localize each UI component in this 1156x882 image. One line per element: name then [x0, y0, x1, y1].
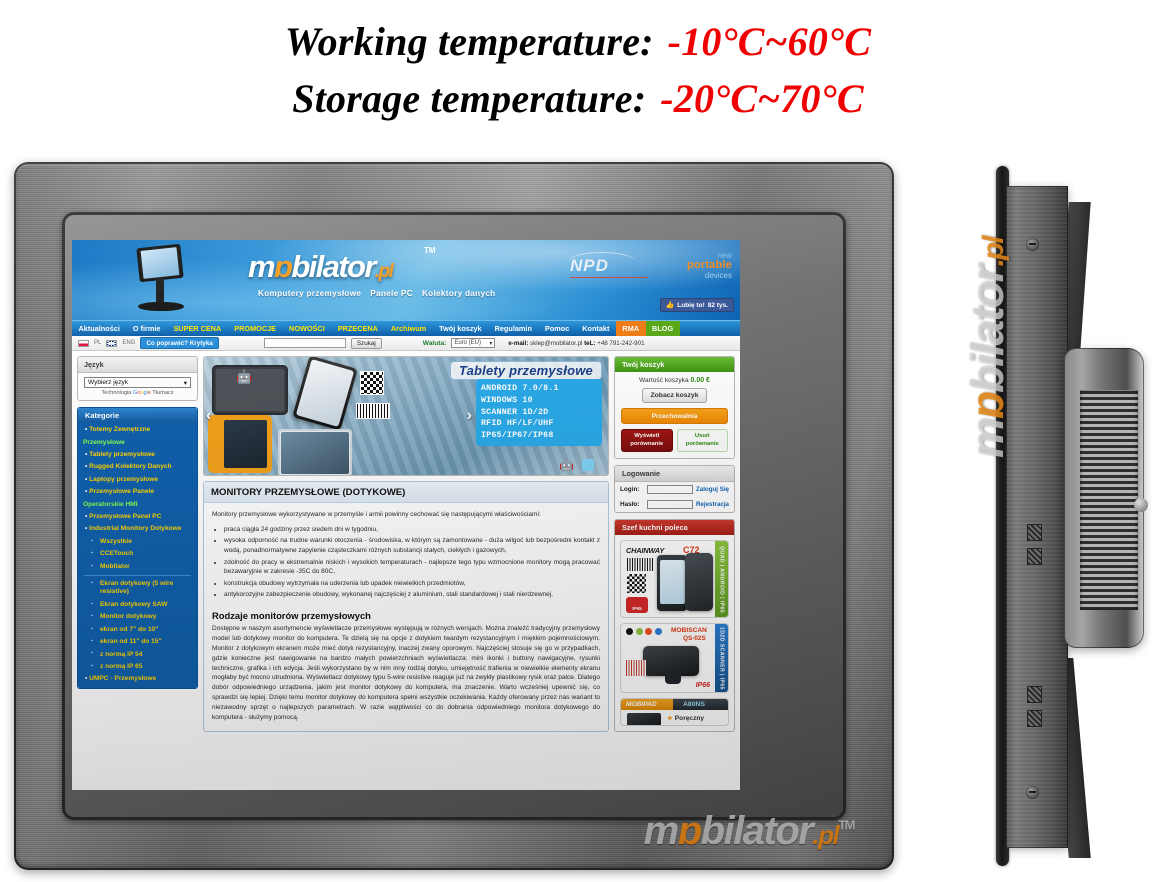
product-card-mobipad-a80ns[interactable]: MOBIPAD A80NS ★ Poręczny [620, 698, 729, 726]
nav-item-super-cena[interactable]: SUPER CENA [167, 321, 228, 336]
credit-suffix: Tłumacz [152, 390, 173, 396]
banner-spec-item: IP65/IP67/IP68 [481, 430, 597, 442]
password-input[interactable] [647, 500, 693, 509]
banner-prev-arrow[interactable]: ‹ [206, 407, 211, 425]
qr-code-icon [360, 371, 384, 395]
article-paragraph: Dostępne w naszym asortymencie wyświetla… [204, 624, 608, 727]
nav-item-rma[interactable]: RMA [616, 321, 646, 336]
mobipad-feature-label: Poręczny [675, 715, 704, 722]
category-item[interactable]: Przemysłowe Panel PC [78, 511, 197, 523]
currency-select[interactable]: Euro (EU) ▾ [451, 338, 495, 348]
npd-arc-icon [568, 252, 636, 262]
site-tagline: Komputery przemysłowePanele PCKolektory … [258, 289, 504, 298]
mobipad-feature: ★ Poręczny [667, 714, 704, 722]
show-comparison-button[interactable]: Wyświetl porównanie [621, 429, 673, 452]
c72-feature-strip: QUAD | ANDROID | IP65 [715, 541, 728, 617]
article-bullet: konstrukcja obudowy wytrzymała na uderze… [224, 579, 600, 589]
qs-feature-strip: 1D2D SCANNER | IP65 [715, 624, 728, 692]
storage-temperature-line: Storage temperature:-20°C~70°C [0, 71, 1156, 128]
qs-trigger [665, 672, 681, 684]
nav-item-twoj-koszyk[interactable]: Twój koszyk [433, 321, 488, 336]
article-lead: Monitory przemysłowe wykorzystywane w pr… [204, 503, 608, 523]
barcode-icon [626, 660, 646, 676]
wm-front-tm: TM [838, 818, 854, 833]
tagline-item-0: Komputery przemysłowe [258, 289, 361, 298]
port-pad-upper-2 [1027, 686, 1042, 703]
banner-spec-item: RFID HF/LF/UHF [481, 418, 597, 430]
flag-en-icon[interactable] [106, 340, 117, 347]
screw-icon [1026, 786, 1039, 799]
cart-value-row: Wartość koszyka 0.00 € [621, 377, 728, 384]
npd-tagline: new portable devices [687, 252, 732, 280]
category-item[interactable]: Ekran dotykowy SAW [78, 599, 197, 611]
windows-icon [645, 628, 652, 635]
category-item[interactable]: z normą IP 65 [78, 661, 197, 673]
nav-item-nowosci[interactable]: NOWOŚCI [283, 321, 332, 336]
bluetooth-icon [655, 628, 662, 635]
storage-temperature-value: -20°C~70°C [660, 76, 863, 121]
wm-front-pl: .pl [812, 820, 838, 850]
android-icon: 🤖 [559, 458, 574, 472]
clear-comparison-button[interactable]: Usuń porównanie [677, 429, 729, 452]
barcode-icon [356, 403, 390, 419]
search-input[interactable] [264, 338, 346, 348]
google-wordmark: Google [133, 390, 151, 396]
nav-item-o-firmie[interactable]: O firmie [126, 321, 167, 336]
category-item[interactable]: ekran od 7" do 10" [78, 624, 197, 636]
tagline-item-2: Kolektory danych [422, 289, 496, 298]
login-panel: Logowanie Login: Zaloguj Się Hasło: Reje… [614, 465, 735, 513]
barcode-icon [627, 558, 653, 571]
qs-model: QS-02S [683, 635, 706, 642]
article-bullet: wysoka odporność na trudne warunki otocz… [224, 536, 600, 556]
category-separator [84, 575, 191, 576]
working-temperature-line: Working temperature:-10°C~60°C [0, 14, 1156, 71]
nav-item-promocje[interactable]: PROMOCJE [228, 321, 283, 336]
cart-title: Twój koszyk [615, 357, 734, 372]
chef-title: Szef kuchni poleca [615, 520, 734, 535]
language-select[interactable]: Wybierz język ▾ [84, 377, 191, 388]
login-label: Login: [620, 486, 644, 493]
category-item[interactable]: Przemysłowe Panele [78, 486, 197, 498]
side-chassis [1006, 186, 1068, 848]
credit-prefix: Technologia [101, 390, 131, 396]
banner-tablet-2 [292, 356, 358, 431]
category-item[interactable]: Operatorskie HMI [78, 499, 197, 511]
category-item[interactable]: UMPC - Przemysłowe [78, 673, 197, 685]
logo-rest: bilator [291, 249, 375, 284]
qs-os-icons [626, 628, 662, 635]
temperature-headings: Working temperature:-10°C~60°C Storage t… [0, 0, 1156, 128]
mobipad-device-image [627, 713, 661, 726]
c72-ip-badge: IP65 [626, 597, 648, 613]
email-value[interactable]: sklep@mobilator.pl [530, 340, 582, 347]
kiosk-base [138, 302, 184, 311]
nav-item-pomoc[interactable]: Pomoc [538, 321, 575, 336]
login-row: Login: Zaloguj Się [615, 482, 734, 497]
category-item[interactable]: Ekran dotykowy (5 wire resistive) [78, 578, 197, 599]
nav-item-kontakt[interactable]: Kontakt [576, 321, 616, 336]
chef-recommends-panel: Szef kuchni poleca CHAINWAY C72 IP65 QUA… [614, 519, 735, 732]
product-card-chainway-c72[interactable]: CHAINWAY C72 IP65 QUAD | ANDROID | IP65 [620, 540, 729, 618]
category-item[interactable]: z normą IP 54 [78, 648, 197, 660]
category-item[interactable]: Industrial Monitory Dotykowe [78, 523, 197, 535]
mobipad-brand: MOBIPAD [626, 701, 657, 708]
category-item[interactable]: Mobilator [78, 561, 197, 573]
facebook-like-count: 82 tys. [708, 302, 728, 309]
android-robot-icon: 🤖 [236, 369, 252, 385]
facebook-like-label: Lubię to! [677, 302, 704, 309]
port-pad-upper [1027, 524, 1042, 541]
article-title: MONITORY PRZEMYSŁOWE (DOTYKOWE) [204, 482, 608, 503]
article-bullet: praca ciągła 24 godziny przez siedem dni… [224, 525, 600, 535]
cart-body: Wartość koszyka 0.00 € Zobacz koszyk Prz… [615, 372, 734, 458]
login-title: Logowanie [615, 466, 734, 482]
critique-badge[interactable]: Co poprawić? Krytyka [140, 337, 218, 349]
register-link[interactable]: Rejestracja [696, 501, 729, 508]
industrial-monitor-front-view: mɒbilator.pl TM Komputery przemysłowePan… [14, 162, 894, 870]
c72-device-back [685, 553, 713, 611]
website-mobilator: mɒbilator.pl TM Komputery przemysłowePan… [72, 240, 740, 738]
tel-label: teL: [584, 340, 595, 347]
cart-panel: Twój koszyk Wartość koszyka 0.00 € Zobac… [614, 356, 735, 459]
compare-buttons: Wyświetl porównanie Usuń porównanie [621, 429, 728, 452]
industrial-monitor-side-view: mɒbilator.pl [968, 158, 1156, 874]
lang-en-label[interactable]: ENG [122, 340, 135, 346]
login-input[interactable] [647, 485, 693, 494]
site-header: mɒbilator.pl TM Komputery przemysłowePan… [72, 240, 740, 320]
utility-bar: PL ENG Co poprawić? Krytyka Szukaj Walut… [72, 336, 740, 351]
npd-devices: devices [687, 272, 732, 280]
nav-item-archiwum[interactable]: Archiwum [384, 321, 432, 336]
language-panel-title: Język [78, 357, 197, 373]
chevron-down-icon: ▾ [489, 340, 492, 347]
category-item[interactable]: Laptopy przemysłowe [78, 474, 197, 486]
banner-title: Tablety przemysłowe [450, 361, 602, 380]
main-content: 🤖 2GB RAM 32GB Flash Tablety przemysłowe… [203, 356, 609, 738]
mobipad-model: A80NS [683, 701, 705, 708]
cart-value-label: Wartość koszyka [639, 377, 689, 384]
nav-item-blog[interactable]: BLOG [646, 321, 680, 336]
android-icon [636, 628, 643, 635]
nav-item-regulamin[interactable]: Regulamin [488, 321, 538, 336]
storage-button[interactable]: Przechowalnia [621, 408, 728, 424]
monitor-screen: mɒbilator.pl TM Komputery przemysłowePan… [72, 240, 740, 790]
product-photo-stage: mɒbilator.pl TM Komputery przemysłowePan… [0, 150, 1156, 882]
categories-panel: Kategorie Totemy ZewnętrznePrzemysłoweTa… [77, 407, 198, 689]
main-navigation: Aktualności O firmie SUPER CENA PROMOCJE… [72, 320, 740, 336]
login-button[interactable]: Zaloguj Się [696, 486, 729, 493]
right-sidebar: Twój koszyk Wartość koszyka 0.00 € Zobac… [614, 356, 735, 738]
windows-icon [582, 459, 594, 471]
c72-brand: CHAINWAY [626, 546, 664, 555]
qs-ip-badge: IP66 [696, 682, 710, 689]
tagline-item-1: Panele PC [370, 289, 413, 298]
npd-logo[interactable]: NPD [570, 256, 648, 278]
thumbs-up-icon: 👍 [666, 301, 675, 309]
email-label: e-mail: [508, 340, 528, 347]
product-card-mobiscan-qs02s[interactable]: MOBISCAN QS-02S IP66 1D2D SCANNER | IP65 [620, 623, 729, 693]
banner-spec-item: ANDROID 7.0/8.1 [481, 383, 597, 395]
apple-icon [626, 628, 633, 635]
view-cart-button[interactable]: Zobacz koszyk [642, 388, 708, 403]
password-row: Hasło: Rejestracja [615, 497, 734, 512]
category-item[interactable]: ekran od 11" do 15" [78, 636, 197, 648]
promo-banner[interactable]: 🤖 2GB RAM 32GB Flash Tablety przemysłowe… [203, 356, 609, 476]
banner-spec-item: WINDOWS 10 [481, 395, 597, 407]
chevron-down-icon: ▾ [184, 379, 187, 387]
c72-device-front [657, 555, 687, 611]
port-pad-lower-2 [1027, 710, 1042, 727]
site-logo[interactable]: mɒbilator.pl [248, 249, 392, 285]
side-rear-housing [1064, 348, 1144, 648]
side-knob [1134, 498, 1148, 512]
logo-o: ɒ [274, 249, 291, 284]
nav-item-przecena[interactable]: PRZECENA [331, 321, 384, 336]
language-panel: Język Wybierz język ▾ Technologia Google… [77, 356, 198, 401]
qr-code-icon [627, 574, 646, 593]
article-bullet: antykorozyjne zabezpieczenie obudowy, wy… [224, 590, 600, 600]
article-subtitle: Rodzaje monitorów przemysłowych [204, 604, 608, 624]
qs-brand: MOBISCAN [671, 627, 707, 634]
tel-value: +48 791-242-901 [597, 340, 644, 347]
site-body: Język Wybierz język ▾ Technologia Google… [72, 351, 740, 738]
article-bullet-list: praca ciągła 24 godziny przez siedem dni… [224, 525, 600, 600]
currency-label: Waluta: [423, 340, 447, 347]
flag-pl-icon[interactable] [78, 340, 89, 347]
heatsink-fins [1080, 390, 1138, 610]
category-item[interactable]: Przemysłowe [78, 436, 197, 448]
logo-pl: .pl [375, 261, 392, 282]
cart-value-amount: 0.00 € [690, 377, 709, 384]
currency-value: Euro (EU) [454, 340, 481, 346]
star-icon: ★ [667, 715, 673, 722]
category-item[interactable]: CCETouch [78, 548, 197, 560]
banner-os-icons: 🤖 [559, 458, 594, 472]
category-item[interactable]: Totemy Zewnętrzne [78, 424, 197, 436]
category-item[interactable]: Wszystkie [78, 536, 197, 548]
banner-spec-item: SCANNER 1D/2D [481, 407, 597, 419]
article: MONITORY PRZEMYSŁOWE (DOTYKOWE) Monitory… [203, 481, 609, 732]
banner-spec-list: ANDROID 7.0/8.1WINDOWS 10SCANNER 1D/2DRF… [476, 379, 602, 446]
language-panel-body: Wybierz język ▾ Technologia Google Tłuma… [78, 373, 197, 400]
banner-tablet-3 [208, 415, 272, 473]
screw-icon [1026, 238, 1039, 251]
kiosk-screen-icon [136, 244, 183, 282]
article-bullet: zdolność do pracy w ekstremalnie niskich… [224, 558, 600, 578]
kiosk-illustration [124, 244, 196, 316]
logo-m: m [248, 249, 274, 284]
contact-info: e-mail: sklep@mobilator.pl teL: +48 791-… [508, 340, 644, 347]
port-pad-lower [1027, 548, 1042, 565]
language-select-value: Wybierz język [88, 379, 128, 386]
category-item[interactable]: Rugged Kolektory Danych [78, 461, 197, 473]
working-temperature-value: -10°C~60°C [668, 19, 871, 64]
banner-tablet-4 [278, 429, 352, 476]
search-button[interactable]: Szukaj [351, 338, 382, 349]
kiosk-neck [156, 278, 164, 304]
nav-item-aktualnosci[interactable]: Aktualności [72, 321, 126, 336]
password-label: Hasło: [620, 501, 644, 508]
categories-list: Totemy ZewnętrznePrzemysłoweTablety prze… [78, 423, 197, 688]
left-sidebar: Język Wybierz język ▾ Technologia Google… [77, 356, 198, 738]
storage-temperature-label: Storage temperature: [292, 76, 646, 121]
lang-pl-label[interactable]: PL [94, 340, 101, 346]
banner-next-arrow[interactable]: › [467, 407, 472, 425]
logo-trademark: TM [424, 246, 436, 255]
google-translate-credit: Technologia Google Tłumacz [84, 390, 191, 396]
category-item[interactable]: Monitor dotykowy [78, 611, 197, 623]
category-item[interactable]: Tablety przemysłowe [78, 449, 197, 461]
working-temperature-label: Working temperature: [285, 19, 654, 64]
facebook-like-button[interactable]: 👍 Lubię to! 82 tys. [660, 298, 734, 312]
categories-title: Kategorie [78, 408, 197, 423]
